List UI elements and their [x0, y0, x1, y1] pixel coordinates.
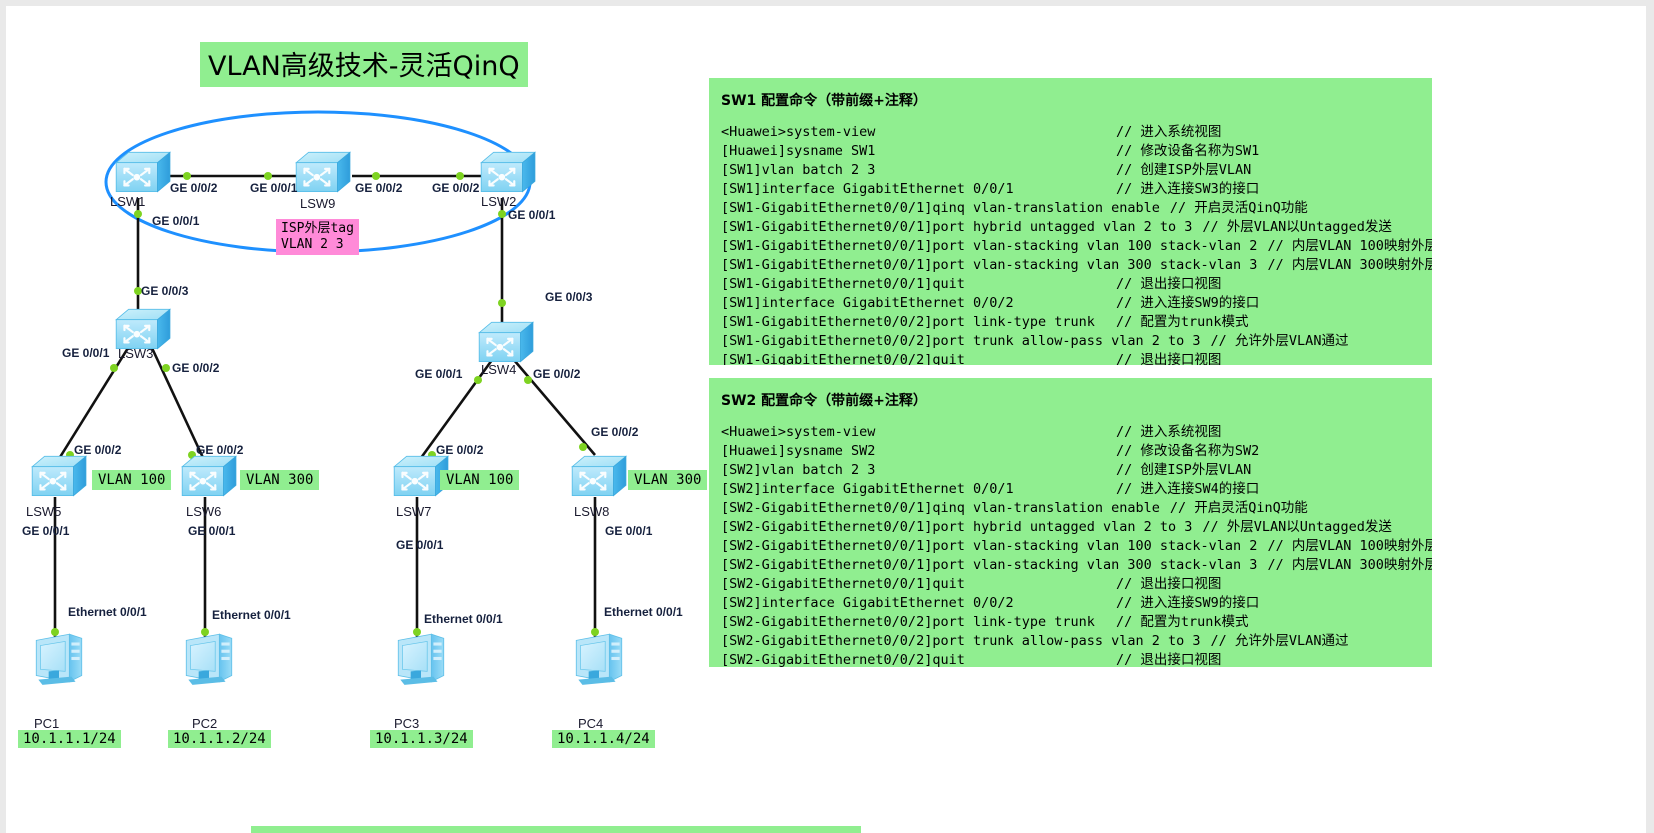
switch-label-lsw3: LSW3: [118, 346, 153, 361]
port-dot: [591, 628, 599, 636]
port-dot: [264, 172, 272, 180]
bottom-panel-partial: [251, 826, 861, 833]
ip-tag-pc1: 10.1.1.1/24: [18, 730, 121, 748]
port-label-pc2-eth: Ethernet 0/0/1: [212, 608, 291, 622]
port-dot: [579, 443, 587, 451]
config-line: [SW1-GigabitEthernet0/0/1]port vlan-stac…: [721, 237, 1432, 256]
config-comment: // 内层VLAN 100映射外层VLAN 2: [1267, 538, 1432, 554]
pc-icon-pc1: [36, 634, 81, 685]
port-label-lsw7-ge001: GE 0/0/1: [396, 538, 443, 552]
config-comment: // 外层VLAN以Untagged发送: [1202, 219, 1391, 235]
config-line: [SW2-GigabitEthernet0/0/1]quit// 退出接口视图: [721, 575, 1432, 594]
config-command: [SW2-GigabitEthernet0/0/1]port vlan-stac…: [721, 557, 1257, 573]
config-panel-sw2-title: SW2 配置命令（带前缀+注释）: [721, 390, 927, 410]
port-label-lsw8-ge001: GE 0/0/1: [605, 524, 652, 538]
config-line: [SW2-GigabitEthernet0/0/1]port vlan-stac…: [721, 556, 1432, 575]
config-command: [SW2-GigabitEthernet0/0/2]port link-type…: [721, 614, 1095, 630]
config-line: [SW1-GigabitEthernet0/0/1]port hybrid un…: [721, 218, 1432, 237]
pc-icon-pc4: [576, 634, 621, 685]
port-label-lsw3-ge002: GE 0/0/2: [172, 361, 219, 375]
config-command: [SW2-GigabitEthernet0/0/1]port vlan-stac…: [721, 538, 1257, 554]
config-command: [SW1-GigabitEthernet0/0/1]qinq vlan-tran…: [721, 200, 1160, 216]
pc-icon-pc3: [398, 634, 443, 685]
config-comment: // 退出接口视图: [1116, 351, 1221, 365]
config-command: [SW1-GigabitEthernet0/0/2]quit: [721, 352, 965, 365]
config-command: [SW2-GigabitEthernet0/0/2]port trunk all…: [721, 633, 1201, 649]
port-dot: [162, 364, 170, 372]
vlan-tag-lsw6: VLAN 300: [240, 470, 319, 490]
config-command: [SW2]interface GigabitEthernet 0/0/2: [721, 595, 1014, 611]
config-command: [SW2]vlan batch 2 3: [721, 462, 875, 478]
config-comment: // 退出接口视图: [1116, 575, 1221, 594]
port-label-lsw6-ge001: GE 0/0/1: [188, 524, 235, 538]
config-line: [Huawei]sysname SW1// 修改设备名称为SW1: [721, 142, 1432, 161]
config-command: [SW1]interface GigabitEthernet 0/0/1: [721, 181, 1014, 197]
config-command: [SW1]interface GigabitEthernet 0/0/2: [721, 295, 1014, 311]
port-label-pc1-eth: Ethernet 0/0/1: [68, 605, 147, 619]
config-line: [SW1]interface GigabitEthernet 0/0/1// 进…: [721, 180, 1432, 199]
config-line: [SW2-GigabitEthernet0/0/1]port vlan-stac…: [721, 537, 1432, 556]
config-line: [SW1-GigabitEthernet0/0/1]quit// 退出接口视图: [721, 275, 1432, 294]
config-comment: // 进入系统视图: [1116, 423, 1221, 442]
config-line: [SW1-GigabitEthernet0/0/2]port link-type…: [721, 313, 1432, 332]
vlan-tag-lsw7: VLAN 100: [440, 470, 519, 490]
switch-label-lsw5: LSW5: [26, 504, 61, 519]
port-label-lsw4-ge003: GE 0/0/3: [545, 290, 592, 304]
port-dot: [134, 210, 142, 218]
config-panel-sw2: SW2 配置命令（带前缀+注释） <Huawei>system-view// 进…: [709, 378, 1432, 667]
ip-tag-pc3: 10.1.1.3/24: [370, 730, 473, 748]
config-line: [SW1]interface GigabitEthernet 0/0/2// 进…: [721, 294, 1432, 313]
port-dot: [372, 172, 380, 180]
config-comment: // 进入连接SW4的接口: [1116, 480, 1259, 499]
vlan-tag-lsw5: VLAN 100: [92, 470, 171, 490]
switch-icon-lsw6: [182, 456, 236, 495]
port-dot: [413, 628, 421, 636]
isp-outer-tag: ISP外层tag VLAN 2 3: [276, 219, 359, 255]
pc-label-pc4: PC4: [578, 716, 603, 731]
config-command: [SW2-GigabitEthernet0/0/1]qinq vlan-tran…: [721, 500, 1160, 516]
port-label-lsw2-ge002: GE 0/0/2: [432, 181, 479, 195]
switch-label-lsw7: LSW7: [396, 504, 431, 519]
port-dot: [51, 628, 59, 636]
switch-icon-lsw5: [32, 456, 86, 495]
config-line: [SW1-GigabitEthernet0/0/1]port vlan-stac…: [721, 256, 1432, 275]
pc-icon-pc2: [186, 634, 231, 685]
config-comment: // 外层VLAN以Untagged发送: [1202, 519, 1391, 535]
port-label-lsw1-ge001: GE 0/0/1: [152, 214, 199, 228]
port-label-lsw6-ge002: GE 0/0/2: [196, 443, 243, 457]
pc-label-pc3: PC3: [394, 716, 419, 731]
port-label-lsw8-ge002: GE 0/0/2: [591, 425, 638, 439]
config-comment: // 进入连接SW3的接口: [1116, 180, 1259, 199]
config-comment: // 开启灵活QinQ功能: [1170, 500, 1308, 516]
port-dot: [474, 376, 482, 384]
config-comment: // 允许外层VLAN通过: [1211, 333, 1349, 349]
config-comment: // 内层VLAN 100映射外层VLAN 2: [1267, 238, 1432, 254]
config-command: [SW1-GigabitEthernet0/0/2]port link-type…: [721, 314, 1095, 330]
port-label-lsw3-ge001: GE 0/0/1: [62, 346, 109, 360]
config-comment: // 配置为trunk模式: [1116, 613, 1249, 632]
config-command: [Huawei]sysname SW1: [721, 143, 875, 159]
port-label-lsw3-ge003: GE 0/0/3: [141, 284, 188, 298]
port-label-lsw4-ge002: GE 0/0/2: [533, 367, 580, 381]
switch-label-lsw4: LSW4: [481, 362, 516, 377]
config-line: <Huawei>system-view// 进入系统视图: [721, 423, 1432, 442]
port-label-lsw5-ge002: GE 0/0/2: [74, 443, 121, 457]
config-command: [SW1-GigabitEthernet0/0/1]quit: [721, 276, 965, 292]
switch-label-lsw1: LSW1: [110, 194, 145, 209]
config-line: [SW2-GigabitEthernet0/0/1]port hybrid un…: [721, 518, 1432, 537]
config-comment: // 修改设备名称为SW2: [1116, 442, 1259, 461]
config-line: [SW2-GigabitEthernet0/0/2]port link-type…: [721, 613, 1432, 632]
config-command: [SW2-GigabitEthernet0/0/2]quit: [721, 652, 965, 667]
port-label-lsw7-ge002: GE 0/0/2: [436, 443, 483, 457]
config-panel-sw2-lines: <Huawei>system-view// 进入系统视图[Huawei]sysn…: [721, 423, 1432, 667]
config-comment: // 内层VLAN 300映射外层VLAN 3: [1267, 557, 1432, 573]
switch-icon-lsw1: [116, 152, 170, 191]
port-dot: [110, 364, 118, 372]
config-panel-sw1: SW1 配置命令（带前缀+注释） <Huawei>system-view// 进…: [709, 78, 1432, 365]
config-panel-sw1-lines: <Huawei>system-view// 进入系统视图[Huawei]sysn…: [721, 123, 1432, 365]
config-line: [SW2-GigabitEthernet0/0/2]quit// 退出接口视图: [721, 651, 1432, 667]
config-command: [SW1-GigabitEthernet0/0/1]port vlan-stac…: [721, 257, 1257, 273]
page-edge-right: [1646, 0, 1654, 833]
port-dot: [498, 299, 506, 307]
switch-label-lsw8: LSW8: [574, 504, 609, 519]
config-comment: // 修改设备名称为SW1: [1116, 142, 1259, 161]
config-command: <Huawei>system-view: [721, 424, 875, 440]
config-line: [SW2]vlan batch 2 3// 创建ISP外层VLAN: [721, 461, 1432, 480]
switch-icon-lsw4: [479, 322, 533, 361]
switch-icon-lsw3: [116, 309, 170, 348]
config-line: [SW2-GigabitEthernet0/0/2]port trunk all…: [721, 632, 1432, 651]
config-command: [SW2-GigabitEthernet0/0/1]port hybrid un…: [721, 519, 1192, 535]
switch-label-lsw2: LSW2: [481, 194, 516, 209]
port-dot: [183, 172, 191, 180]
config-command: [SW1-GigabitEthernet0/0/1]port vlan-stac…: [721, 238, 1257, 254]
config-comment: // 内层VLAN 300映射外层VLAN 3: [1267, 257, 1432, 273]
config-command: [SW1-GigabitEthernet0/0/2]port trunk all…: [721, 333, 1201, 349]
config-line: [SW1]vlan batch 2 3// 创建ISP外层VLAN: [721, 161, 1432, 180]
port-label-lsw5-ge001: GE 0/0/1: [22, 524, 69, 538]
switch-label-lsw6: LSW6: [186, 504, 221, 519]
config-comment: // 开启灵活QinQ功能: [1170, 200, 1308, 216]
config-command: [Huawei]sysname SW2: [721, 443, 875, 459]
switch-icon-lsw2: [481, 152, 535, 191]
pc-label-pc1: PC1: [34, 716, 59, 731]
config-line: [SW1-GigabitEthernet0/0/1]qinq vlan-tran…: [721, 199, 1432, 218]
config-line: [SW2]interface GigabitEthernet 0/0/1// 进…: [721, 480, 1432, 499]
config-comment: // 进入连接SW9的接口: [1116, 294, 1259, 313]
isp-tag-line1: ISP外层tag: [281, 221, 354, 237]
config-comment: // 创建ISP外层VLAN: [1116, 461, 1251, 480]
config-command: [SW2-GigabitEthernet0/0/1]quit: [721, 576, 965, 592]
config-comment: // 退出接口视图: [1116, 275, 1221, 294]
config-line: <Huawei>system-view// 进入系统视图: [721, 123, 1432, 142]
port-label-lsw9-ge001: GE 0/0/1: [250, 181, 297, 195]
config-command: [SW2]interface GigabitEthernet 0/0/1: [721, 481, 1014, 497]
config-comment: // 配置为trunk模式: [1116, 313, 1249, 332]
ip-tag-pc4: 10.1.1.4/24: [552, 730, 655, 748]
switch-label-lsw9: LSW9: [300, 196, 335, 211]
config-line: [SW2]interface GigabitEthernet 0/0/2// 进…: [721, 594, 1432, 613]
ip-tag-pc2: 10.1.1.2/24: [168, 730, 271, 748]
port-dot: [498, 210, 506, 218]
config-line: [SW2-GigabitEthernet0/0/1]qinq vlan-tran…: [721, 499, 1432, 518]
switch-icon-lsw9: [296, 152, 350, 191]
config-command: <Huawei>system-view: [721, 124, 875, 140]
config-comment: // 退出接口视图: [1116, 651, 1221, 667]
switch-icon-lsw8: [572, 456, 626, 495]
isp-tag-line2: VLAN 2 3: [281, 237, 354, 253]
config-comment: // 进入系统视图: [1116, 123, 1221, 142]
config-command: [SW1]vlan batch 2 3: [721, 162, 875, 178]
config-comment: // 创建ISP外层VLAN: [1116, 161, 1251, 180]
port-label-pc4-eth: Ethernet 0/0/1: [604, 605, 683, 619]
port-label-lsw2-ge001: GE 0/0/1: [508, 208, 555, 222]
port-dot: [524, 376, 532, 384]
diagram-canvas: VLAN高级技术-灵活QinQ: [0, 0, 1654, 833]
config-panel-sw1-title: SW1 配置命令（带前缀+注释）: [721, 90, 927, 110]
network-topology: [0, 0, 700, 790]
config-line: [SW1-GigabitEthernet0/0/2]quit// 退出接口视图: [721, 351, 1432, 365]
config-comment: // 允许外层VLAN通过: [1211, 633, 1349, 649]
config-command: [SW1-GigabitEthernet0/0/1]port hybrid un…: [721, 219, 1192, 235]
vlan-tag-lsw8: VLAN 300: [628, 470, 707, 490]
port-label-pc3-eth: Ethernet 0/0/1: [424, 612, 503, 626]
pc-label-pc2: PC2: [192, 716, 217, 731]
port-dot: [201, 628, 209, 636]
port-label-lsw4-ge001: GE 0/0/1: [415, 367, 462, 381]
port-label-lsw9-ge002: GE 0/0/2: [355, 181, 402, 195]
port-dot: [456, 172, 464, 180]
config-comment: // 进入连接SW9的接口: [1116, 594, 1259, 613]
config-line: [SW1-GigabitEthernet0/0/2]port trunk all…: [721, 332, 1432, 351]
port-label-lsw1-ge002: GE 0/0/2: [170, 181, 217, 195]
config-line: [Huawei]sysname SW2// 修改设备名称为SW2: [721, 442, 1432, 461]
